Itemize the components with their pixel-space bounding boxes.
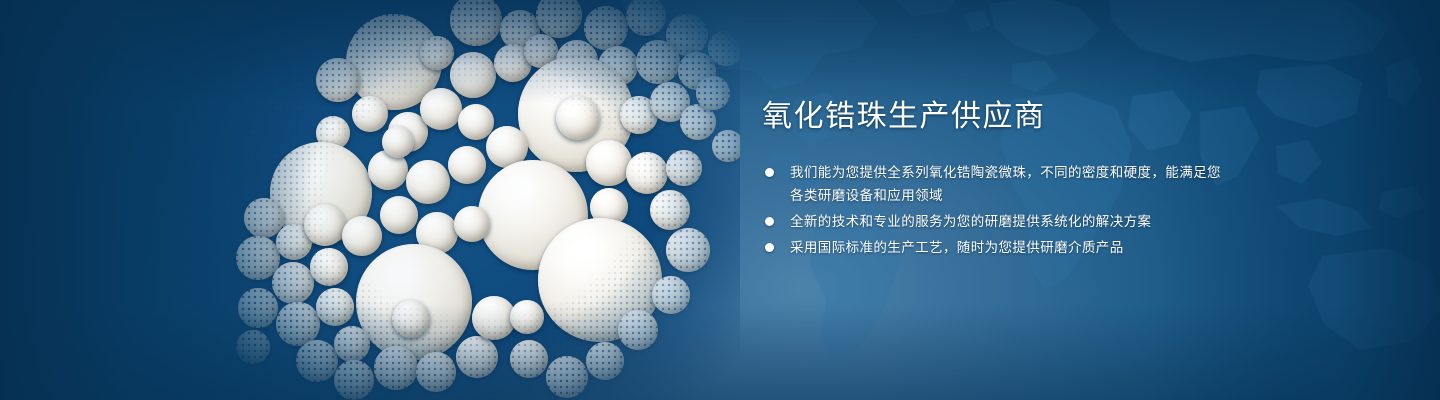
filled-circle-icon	[765, 168, 774, 177]
list-item-label: 全新的技术和专业的服务为您的研磨提供系统化的解决方案	[790, 214, 1151, 229]
list-item: 全新的技术和专业的服务为您的研磨提供系统化的解决方案	[762, 210, 1232, 233]
hero-banner: 氧化锆珠生产供应商 我们能为您提供全系列氧化锆陶瓷微珠，不同的密度和硬度，能满足…	[0, 0, 1440, 400]
feature-list: 我们能为您提供全系列氧化锆陶瓷微珠，不同的密度和硬度，能满足您各类研磨设备和应用…	[762, 161, 1232, 259]
filled-circle-icon	[765, 217, 774, 226]
list-item: 采用国际标准的生产工艺，随时为您提供研磨介质产品	[762, 236, 1232, 259]
page-title: 氧化锆珠生产供应商	[762, 100, 1232, 135]
filled-circle-icon	[765, 243, 774, 252]
list-item-label: 我们能为您提供全系列氧化锆陶瓷微珠，不同的密度和硬度，能满足您各类研磨设备和应用…	[790, 165, 1221, 203]
list-item: 我们能为您提供全系列氧化锆陶瓷微珠，不同的密度和硬度，能满足您各类研磨设备和应用…	[762, 161, 1232, 207]
list-item-label: 采用国际标准的生产工艺，随时为您提供研磨介质产品	[790, 240, 1124, 255]
banner-text-block: 氧化锆珠生产供应商 我们能为您提供全系列氧化锆陶瓷微珠，不同的密度和硬度，能满足…	[762, 100, 1232, 262]
